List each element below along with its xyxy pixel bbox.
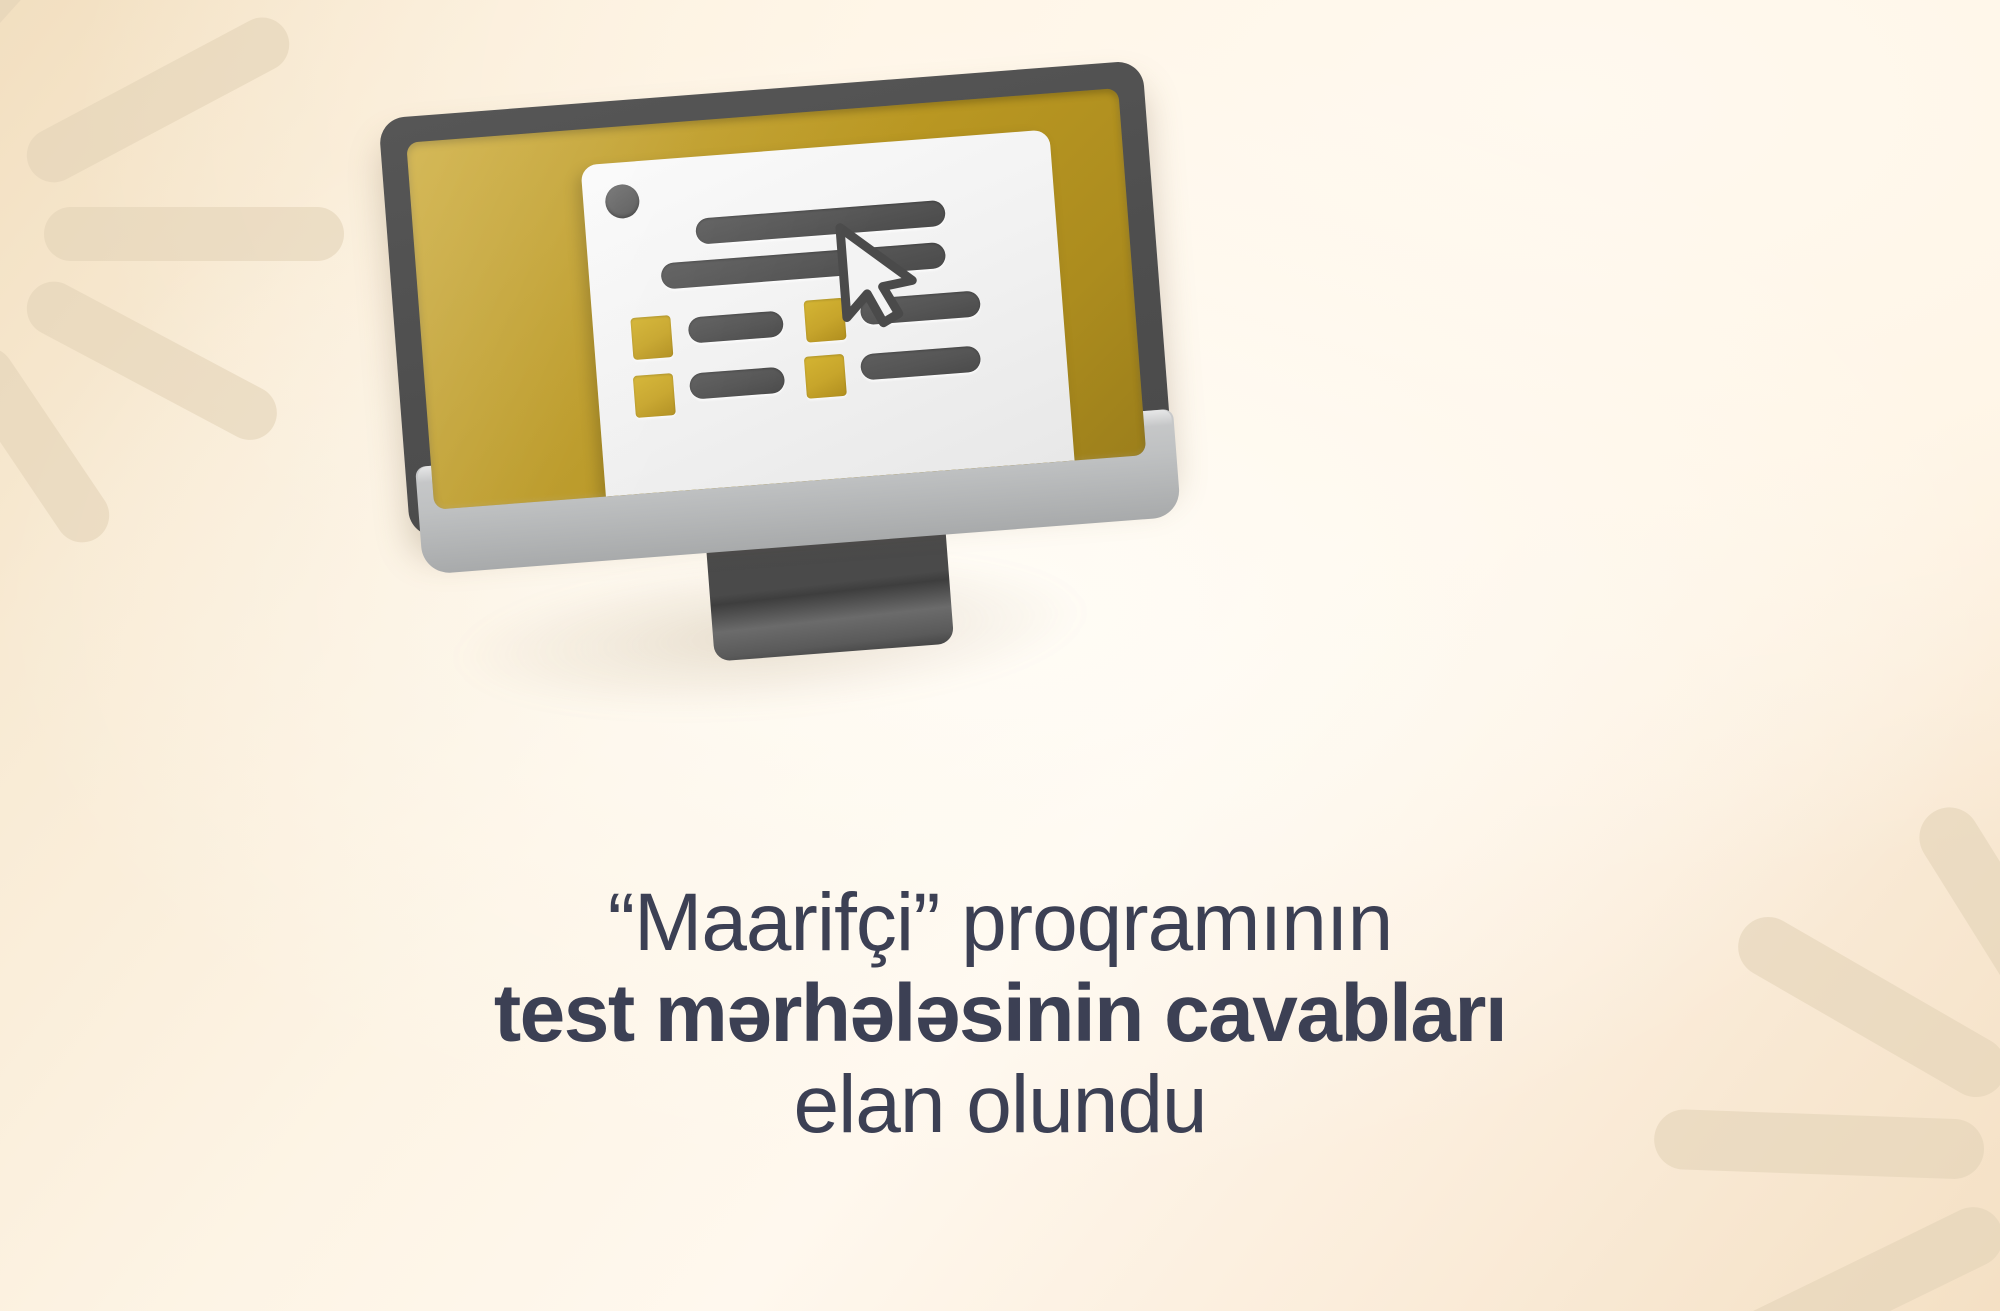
- headline-line-3: elan olundu: [0, 1062, 2000, 1149]
- page-title: “Maarifçi” proqramının test mərhələsinin…: [0, 880, 2000, 1149]
- screen-glare: [406, 88, 1146, 510]
- monitor-screen: [406, 88, 1146, 510]
- headline-line-2: test mərhələsinin cavabları: [0, 971, 2000, 1058]
- headline-line-1: “Maarifçi” proqramının: [0, 880, 2000, 967]
- hero-illustration: [380, 40, 1200, 680]
- desktop-monitor-icon: [357, 9, 1224, 710]
